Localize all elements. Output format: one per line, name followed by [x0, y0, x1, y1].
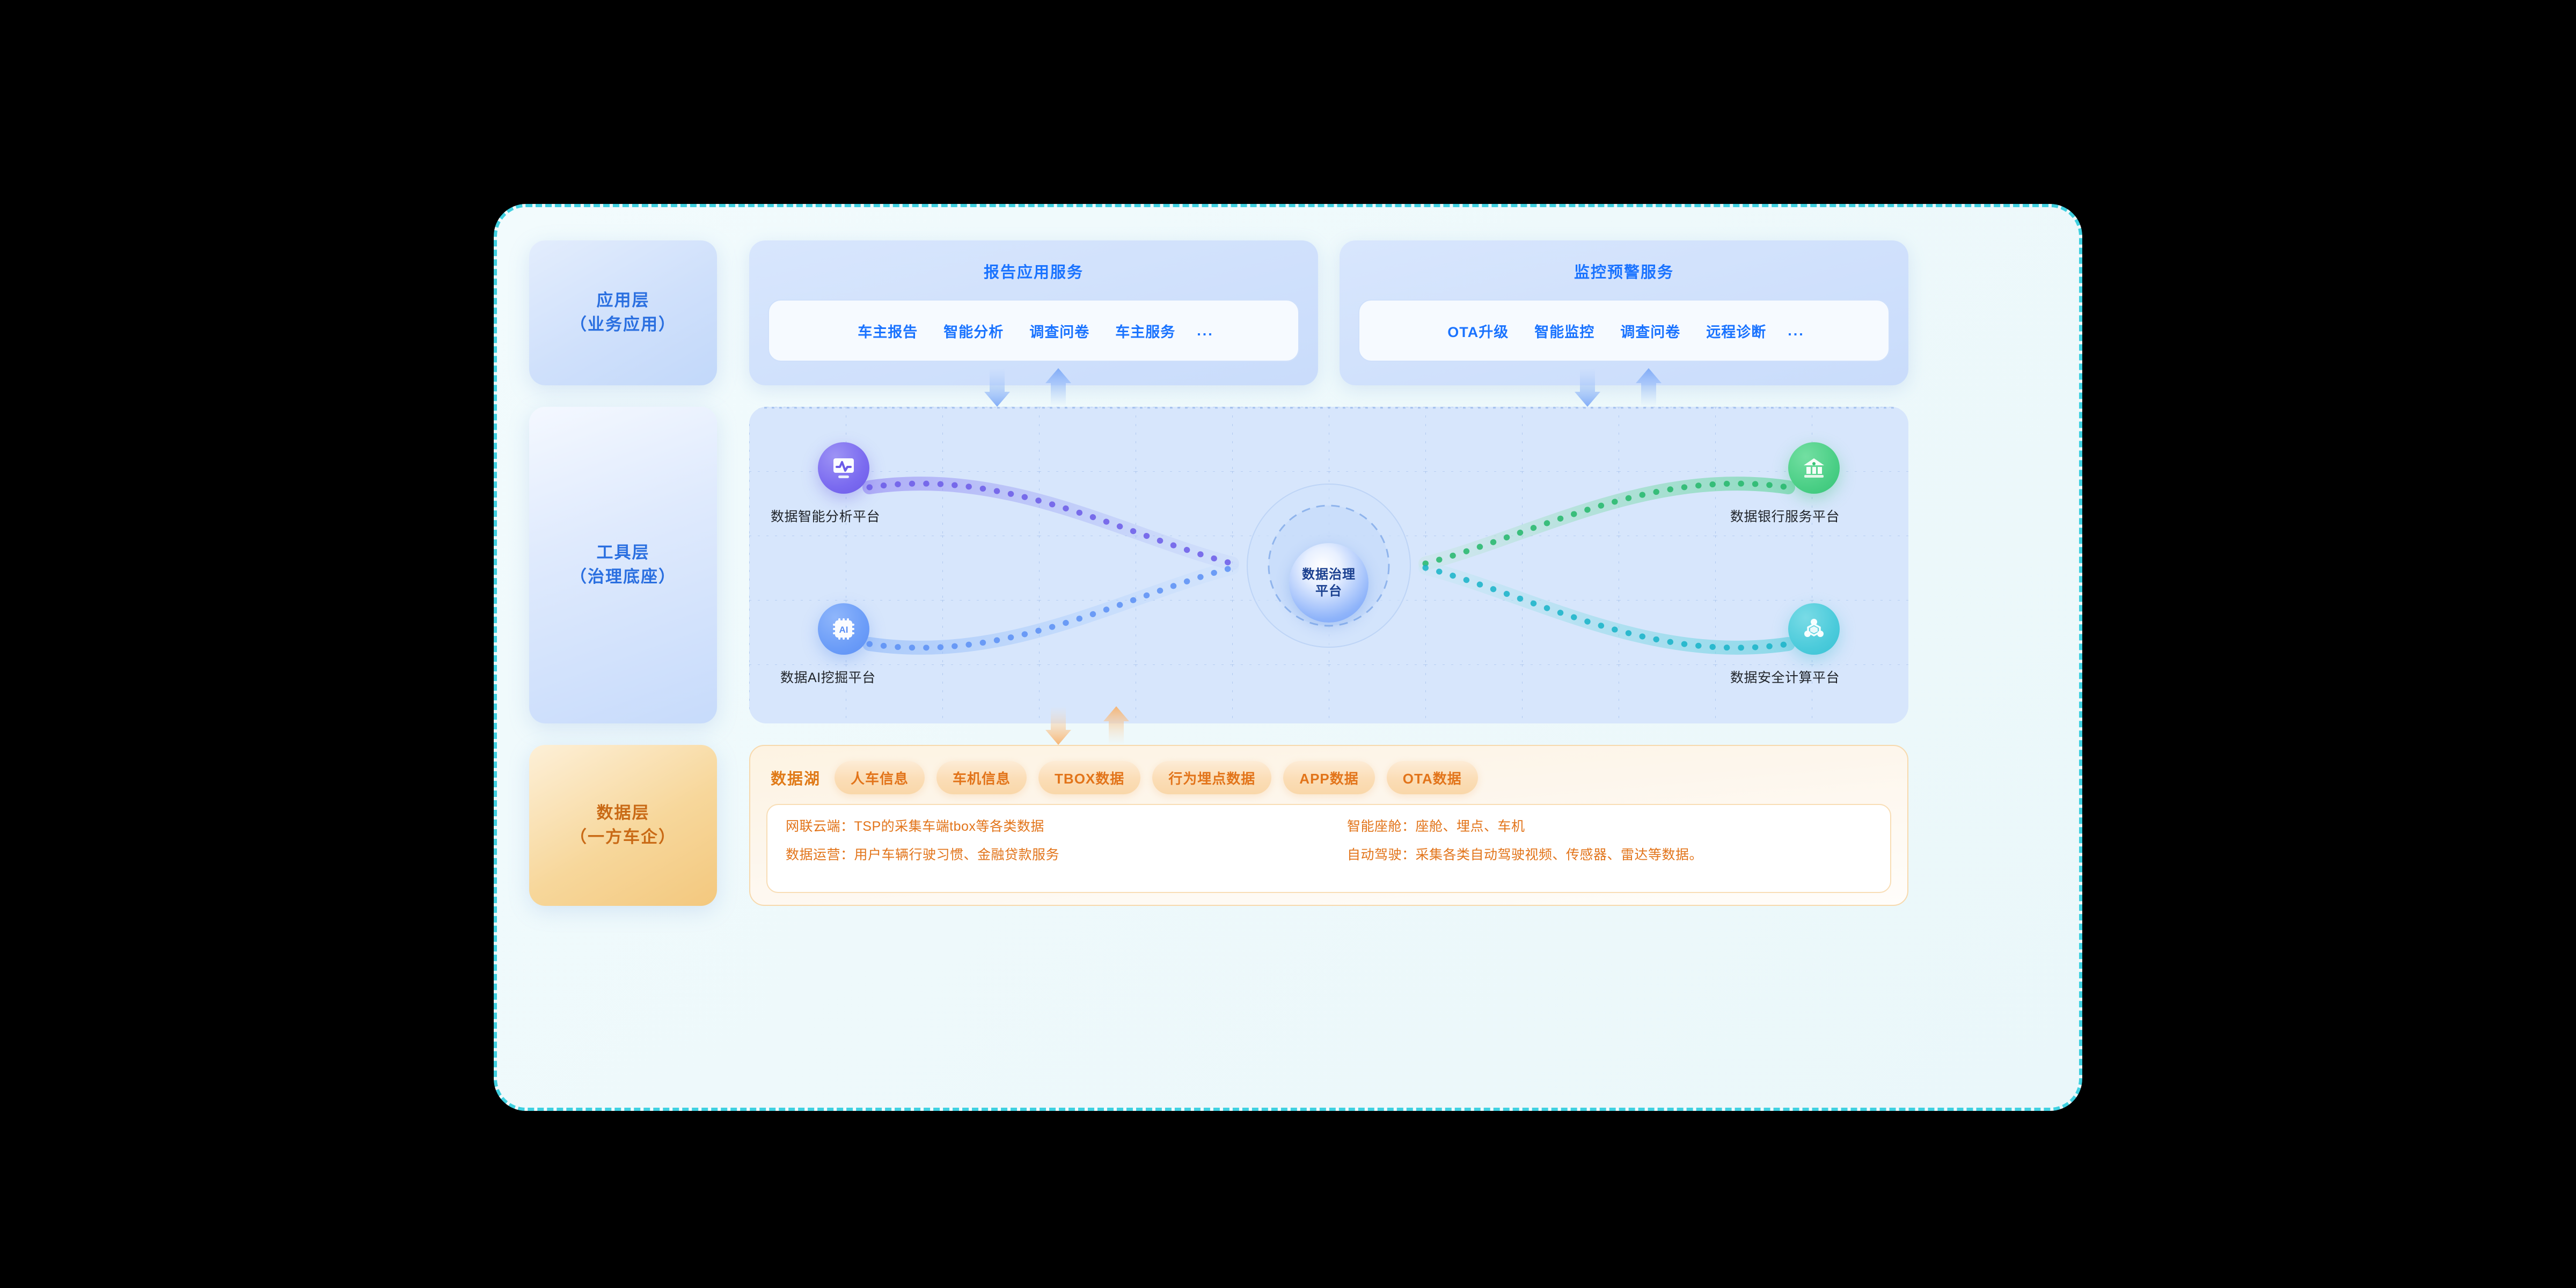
arrow-down-icon: [1045, 706, 1071, 745]
diagram-frame: 应用层 （业务应用） 工具层 （治理底座） 数据层 （一方车企） 报告应用服务 …: [494, 204, 2082, 1111]
service-card-monitoring-title: 监控预警服务: [1340, 260, 1908, 282]
description-line: 智能座舱：座舱、埋点、车机: [1347, 820, 1890, 833]
service-item[interactable]: 智能分析: [931, 320, 1016, 341]
description-column-right: 智能座舱：座舱、埋点、车机 自动驾驶：采集各类自动驾驶视频、传感器、雷达等数据。: [1329, 805, 1890, 892]
node-data-security-platform[interactable]: [1788, 603, 1840, 655]
data-lake-title: 数据湖: [767, 766, 835, 789]
arrow-up-icon: [1045, 368, 1071, 407]
data-lake-tag[interactable]: OTA数据: [1387, 761, 1478, 794]
central-hub[interactable]: 数据治理 平台: [1247, 501, 1410, 664]
svg-text:AI: AI: [839, 625, 848, 635]
layer-label-application-line2: （业务应用）: [570, 313, 676, 337]
service-card-monitoring-items: OTA升级 智能监控 调查问卷 远程诊断 ...: [1358, 299, 1890, 362]
layer-label-application: 应用层 （业务应用）: [529, 240, 717, 385]
service-item[interactable]: 远程诊断: [1693, 320, 1779, 341]
description-column-left: 网联云端：TSP的采集车端tbox等各类数据 数据运营：用户车辆行驶习惯、金融贷…: [767, 805, 1329, 892]
service-item[interactable]: 车主报告: [845, 320, 931, 341]
data-lake-tag[interactable]: APP数据: [1283, 761, 1374, 794]
service-item-more[interactable]: ...: [1188, 323, 1223, 339]
data-lake-tag-row: 数据湖 人车信息 车机信息 TBOX数据 行为埋点数据 APP数据 OTA数据: [767, 758, 1890, 797]
arrow-up-icon: [1636, 368, 1662, 407]
service-item[interactable]: 调查问卷: [1607, 320, 1693, 341]
central-hub-core[interactable]: 数据治理 平台: [1289, 543, 1368, 623]
description-line: 自动驾驶：采集各类自动驾驶视频、传感器、雷达等数据。: [1347, 848, 1890, 862]
node-data-bank-platform[interactable]: [1788, 442, 1840, 494]
layer-label-application-line1: 应用层: [597, 289, 650, 313]
arrow-down-icon: [984, 368, 1010, 407]
node-label-data-bank-platform: 数据银行服务平台: [1730, 506, 1840, 525]
data-lake-tag[interactable]: 行为埋点数据: [1152, 761, 1271, 794]
node-label-data-security-platform: 数据安全计算平台: [1730, 667, 1840, 686]
central-hub-line2: 平台: [1315, 583, 1342, 599]
node-label-data-analysis-platform: 数据智能分析平台: [771, 506, 880, 525]
node-data-ai-platform[interactable]: AI: [818, 603, 869, 655]
service-card-report-title: 报告应用服务: [749, 260, 1318, 282]
central-hub-line1: 数据治理: [1302, 566, 1356, 583]
bank-building-icon: [1800, 454, 1828, 482]
node-label-data-ai-platform: 数据AI挖掘平台: [780, 667, 876, 686]
description-line: 数据运营：用户车辆行驶习惯、金融贷款服务: [786, 848, 1329, 862]
arrow-down-icon: [1575, 368, 1600, 407]
monitor-pulse-icon: [830, 454, 858, 482]
service-item[interactable]: OTA升级: [1435, 320, 1521, 341]
data-source-description-box: 网联云端：TSP的采集车端tbox等各类数据 数据运营：用户车辆行驶习惯、金融贷…: [766, 804, 1891, 893]
layer-label-tool: 工具层 （治理底座）: [529, 407, 717, 723]
data-lake-tag[interactable]: 车机信息: [936, 761, 1027, 794]
arrow-up-icon: [1103, 706, 1129, 745]
service-item[interactable]: 智能监控: [1521, 320, 1607, 341]
data-lake-tag[interactable]: TBOX数据: [1038, 761, 1140, 794]
data-lake-tag[interactable]: 人车信息: [835, 761, 925, 794]
service-item-more[interactable]: ...: [1779, 323, 1813, 339]
shield-network-icon: [1800, 615, 1828, 643]
tool-layer-panel: 数据治理 平台 数据智能分析平台 AI 数据AI挖掘平台: [749, 407, 1908, 723]
node-data-analysis-platform[interactable]: [818, 442, 869, 494]
layer-label-data-line1: 数据层: [597, 801, 650, 825]
layer-label-data: 数据层 （一方车企）: [529, 745, 717, 906]
ai-chip-icon: AI: [830, 615, 858, 643]
service-card-monitoring[interactable]: 监控预警服务 OTA升级 智能监控 调查问卷 远程诊断 ...: [1340, 240, 1908, 385]
data-layer-panel: 数据湖 人车信息 车机信息 TBOX数据 行为埋点数据 APP数据 OTA数据 …: [749, 745, 1908, 906]
service-card-report-items: 车主报告 智能分析 调查问卷 车主服务 ...: [768, 299, 1299, 362]
layer-label-data-line2: （一方车企）: [570, 825, 676, 850]
description-line: 网联云端：TSP的采集车端tbox等各类数据: [786, 820, 1329, 833]
service-card-report[interactable]: 报告应用服务 车主报告 智能分析 调查问卷 车主服务 ...: [749, 240, 1318, 385]
layer-label-tool-line2: （治理底座）: [570, 565, 676, 589]
layer-label-tool-line1: 工具层: [597, 541, 650, 565]
service-item[interactable]: 调查问卷: [1016, 320, 1102, 341]
service-item[interactable]: 车主服务: [1102, 320, 1188, 341]
